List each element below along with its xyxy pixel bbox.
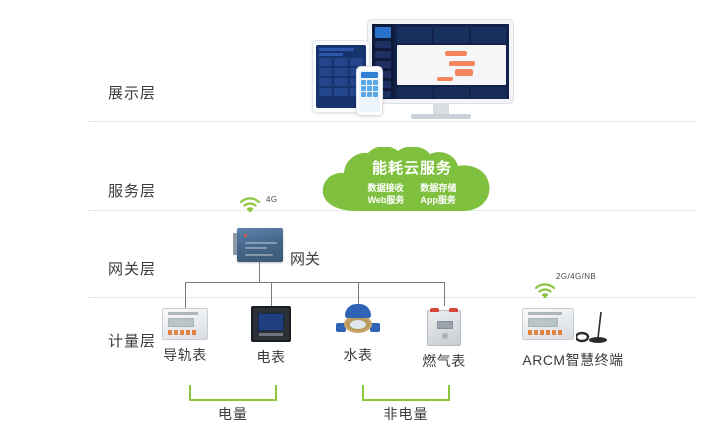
cloud-item-app-service: App服务 <box>420 194 456 206</box>
meter-din-rail: 导轨表 <box>155 308 215 365</box>
desktop-monitor <box>368 20 513 119</box>
monitor-stand-base <box>411 114 471 119</box>
cloud-content: 能耗云服务 数据接收 Web服务 数据存储 App服务 <box>317 147 507 213</box>
meter-gas: 燃气表 <box>414 310 474 371</box>
meter-label-gas: 燃气表 <box>414 351 474 371</box>
meter-water: 水表 <box>328 304 388 365</box>
electric-meter-icon <box>251 306 291 342</box>
monitor-stand-neck <box>433 103 449 114</box>
drop-line-water <box>358 282 359 304</box>
antenna-icon <box>576 310 610 346</box>
monitor-map-widget <box>397 45 506 85</box>
gateway-uplink-connector <box>249 212 250 228</box>
gateway-uplink-label: 4G <box>266 195 277 204</box>
drop-line-din <box>185 282 186 308</box>
wifi-icon <box>239 196 261 212</box>
arcm-terminal-icon <box>522 308 574 340</box>
din-rail-meter-icon <box>162 308 208 340</box>
arcm-signal-label: 2G/4G/NB <box>556 272 596 281</box>
layer-label-service: 服务层 <box>108 180 194 201</box>
meter-label-water: 水表 <box>328 345 388 365</box>
gas-meter-icon <box>427 310 461 346</box>
meter-label-electric: 电表 <box>241 347 301 367</box>
meter-label-din-rail: 导轨表 <box>155 345 215 365</box>
cloud-item-data-receive: 数据接收 <box>368 182 405 194</box>
monitor-dashboard <box>394 24 509 99</box>
gateway-label: 网关 <box>290 248 320 269</box>
cloud-column-2: 数据存储 App服务 <box>420 182 456 206</box>
bracket-non-electric-group <box>362 385 450 401</box>
monitor-screen <box>368 20 513 103</box>
layer-label-display: 展示层 <box>108 82 194 103</box>
wifi-icon <box>534 282 556 298</box>
cloud-item-data-storage: 数据存储 <box>420 182 456 194</box>
arcm-smart-terminal: ARCM智慧终端 <box>508 308 638 370</box>
wifi-icon-gateway <box>239 196 261 217</box>
phone-screen <box>359 70 380 112</box>
divider-display-service <box>88 121 698 122</box>
group-label-non-electric: 非电量 <box>362 404 450 424</box>
gateway-device <box>237 228 283 262</box>
arcm-terminal-label: ARCM智慧终端 <box>508 350 638 370</box>
meter-electric: 电表 <box>241 306 301 367</box>
water-meter-icon <box>336 304 380 340</box>
smartphone-device <box>356 66 383 116</box>
divider-gateway-metering <box>88 297 698 298</box>
bracket-electric-group <box>189 385 277 401</box>
cloud-item-web-service: Web服务 <box>368 194 405 206</box>
phone-body <box>356 66 383 116</box>
wifi-icon-arcm <box>534 282 556 303</box>
cloud-column-1: 数据接收 Web服务 <box>368 182 405 206</box>
cloud-title: 能耗云服务 <box>317 157 507 178</box>
group-label-electric: 电量 <box>189 404 277 424</box>
meter-bus-line <box>185 282 444 283</box>
architecture-diagram: 展示层 服务层 网关层 计量层 <box>0 0 715 443</box>
drop-line-gas <box>444 282 445 306</box>
drop-line-electric <box>271 282 272 308</box>
layer-label-gateway: 网关层 <box>108 258 194 279</box>
gateway-trunk-line <box>259 262 260 282</box>
cloud-service: 能耗云服务 数据接收 Web服务 数据存储 App服务 <box>317 147 507 213</box>
